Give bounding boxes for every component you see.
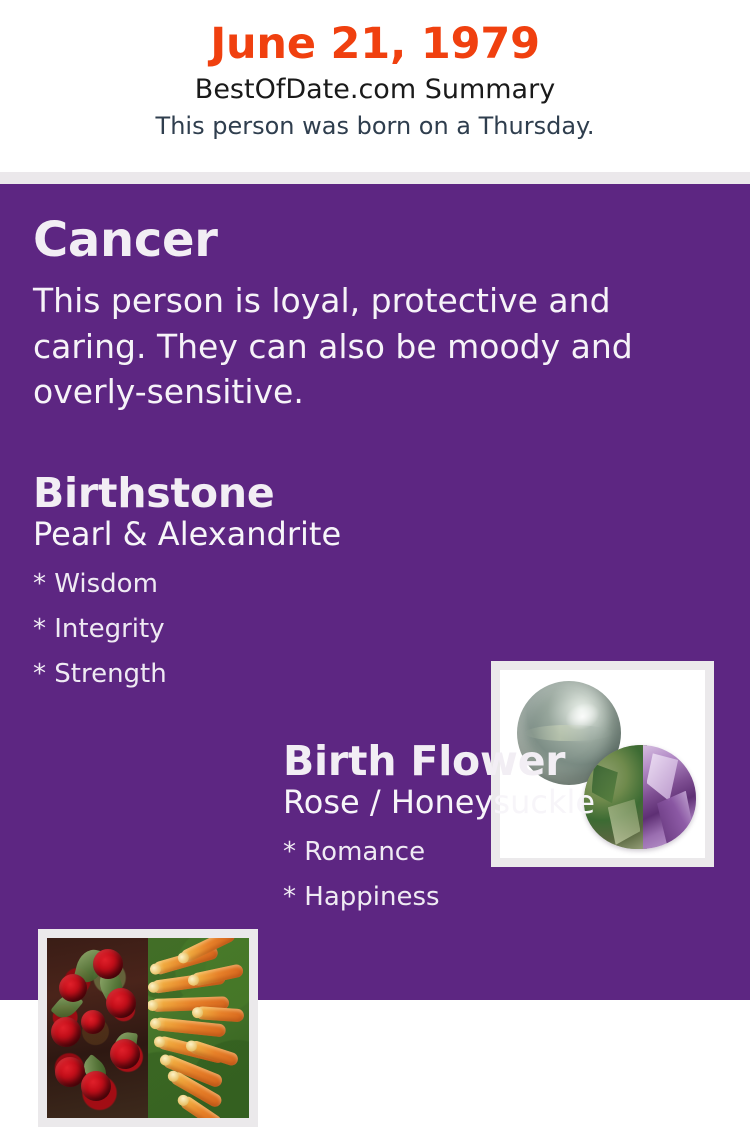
list-item: * Happiness bbox=[283, 875, 723, 920]
list-item: * Wisdom bbox=[33, 562, 463, 607]
list-item: * Integrity bbox=[33, 607, 463, 652]
zodiac-sign-title: Cancer bbox=[33, 216, 673, 264]
birthflower-image-frame bbox=[38, 929, 258, 1127]
birthstone-text-block: Birthstone Pearl & Alexandrite * Wisdom … bbox=[33, 472, 463, 697]
birthflower-names: Rose / Honeysuckle bbox=[283, 785, 723, 821]
honeysuckle-photo-half bbox=[148, 938, 249, 1118]
zodiac-description: This person is loyal, protective and car… bbox=[33, 278, 648, 415]
born-on-day-text: This person was born on a Thursday. bbox=[0, 112, 750, 141]
birthflower-trait-list: * Romance * Happiness bbox=[283, 830, 723, 919]
birthstone-title: Birthstone bbox=[33, 472, 463, 515]
list-item: * Romance bbox=[283, 830, 723, 875]
site-name-summary: BestOfDate.com Summary bbox=[0, 74, 750, 107]
birthflower-image bbox=[47, 938, 249, 1118]
birthflower-text-block: Birth Flower Rose / Honeysuckle * Romanc… bbox=[283, 740, 723, 920]
summary-panel: Cancer This person is loyal, protective … bbox=[0, 184, 750, 1000]
birthstone-trait-list: * Wisdom * Integrity * Strength bbox=[33, 562, 463, 696]
birthstone-names: Pearl & Alexandrite bbox=[33, 517, 463, 553]
page-title-date: June 21, 1979 bbox=[0, 22, 750, 68]
page-header: June 21, 1979 BestOfDate.com Summary Thi… bbox=[0, 0, 750, 172]
red-roses-photo-half bbox=[47, 938, 148, 1118]
birthflower-title: Birth Flower bbox=[283, 740, 723, 783]
list-item: * Strength bbox=[33, 652, 463, 697]
header-divider bbox=[0, 172, 750, 184]
zodiac-section: Cancer This person is loyal, protective … bbox=[33, 216, 673, 415]
